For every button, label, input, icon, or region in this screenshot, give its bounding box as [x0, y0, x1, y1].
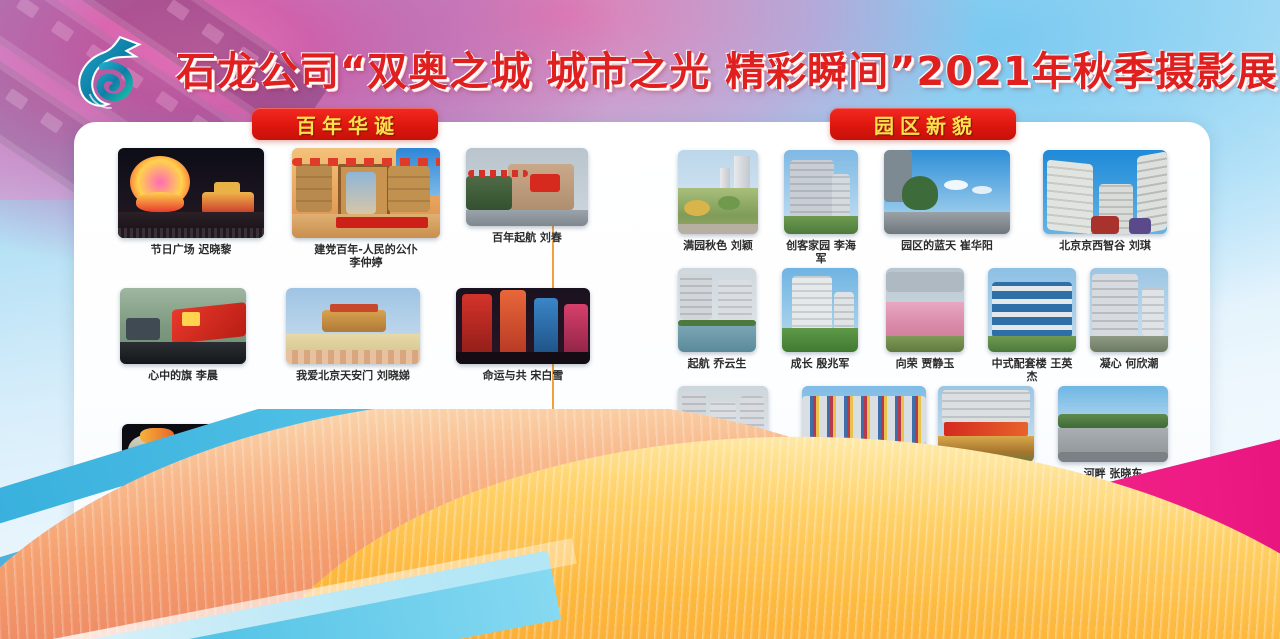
photo-caption: 心中的旗 李晨 [148, 369, 218, 382]
photo-cell[interactable]: 园区的蓝天 崔华阳 [884, 150, 1010, 252]
photo-cell[interactable]: 百年起航 刘春 [466, 148, 588, 244]
section-heading-right: 园区新貌 [830, 108, 1016, 140]
photo-cell[interactable]: 成长 殷兆军 [782, 268, 858, 370]
photo-cell[interactable]: 向荣 贾静玉 [886, 268, 964, 370]
photo-cell[interactable]: 中式配套楼 王英杰 [988, 268, 1076, 383]
photo-thumbnail[interactable] [678, 268, 756, 352]
photo-cell[interactable]: 起航 乔云生 [678, 268, 756, 370]
photo-thumbnail[interactable] [1090, 268, 1168, 352]
bottom-ribbon-decoration [0, 409, 1280, 639]
photo-caption: 北京京西智谷 刘琪 [1059, 239, 1151, 252]
photo-cell[interactable]: 节日广场 迟晓黎 [118, 148, 264, 256]
photo-caption: 创客家园 李海军 [784, 239, 858, 265]
photo-cell[interactable]: 心中的旗 李晨 [120, 288, 246, 382]
photo-caption: 建党百年-人民的公仆 李仲婷 [314, 243, 418, 269]
photo-thumbnail[interactable] [466, 148, 588, 226]
photo-caption: 凝心 何欣潮 [1100, 357, 1159, 370]
photo-caption: 满园秋色 刘颖 [683, 239, 753, 252]
photo-caption: 成长 殷兆军 [791, 357, 850, 370]
photo-caption: 百年起航 刘春 [492, 231, 562, 244]
photo-cell[interactable]: 建党百年-人民的公仆 李仲婷 [292, 148, 440, 269]
section-heading-left: 百年华诞 [252, 108, 438, 140]
photo-cell[interactable]: 满园秋色 刘颖 [678, 150, 758, 252]
photo-thumbnail[interactable] [118, 148, 264, 238]
photo-caption: 命运与共 宋白雪 [483, 369, 564, 382]
photo-thumbnail[interactable] [886, 268, 964, 352]
photo-thumbnail[interactable] [120, 288, 246, 364]
page-title: 石龙公司“双奥之城 城市之光 精彩瞬间”2021年秋季摄影展 [176, 46, 1206, 98]
photo-thumbnail[interactable] [292, 148, 440, 238]
photo-thumbnail[interactable] [782, 268, 858, 352]
section-heading-left-label: 百年华诞 [290, 110, 400, 139]
section-heading-right-label: 园区新貌 [868, 110, 978, 139]
photo-cell[interactable]: 我爱北京天安门 刘晓娣 [286, 288, 420, 382]
shilong-dragon-logo [62, 26, 154, 118]
photo-thumbnail[interactable] [784, 150, 858, 234]
photo-caption: 起航 乔云生 [688, 357, 747, 370]
photo-cell[interactable]: 凝心 何欣潮 [1090, 268, 1168, 370]
photo-caption: 中式配套楼 王英杰 [988, 357, 1076, 383]
photo-thumbnail[interactable] [678, 150, 758, 234]
photography-exhibition-poster: 石龙公司“双奥之城 城市之光 精彩瞬间”2021年秋季摄影展 百年华诞 园区新貌… [0, 0, 1280, 639]
photo-cell[interactable]: 创客家园 李海军 [784, 150, 858, 265]
photo-thumbnail[interactable] [286, 288, 420, 364]
photo-thumbnail[interactable] [1043, 150, 1167, 234]
photo-thumbnail[interactable] [456, 288, 590, 364]
photo-cell[interactable]: 北京京西智谷 刘琪 [1043, 150, 1167, 252]
photo-thumbnail[interactable] [988, 268, 1076, 352]
photo-caption: 我爱北京天安门 刘晓娣 [296, 369, 410, 382]
photo-caption: 节日广场 迟晓黎 [151, 243, 232, 256]
photo-caption: 向荣 贾静玉 [896, 357, 955, 370]
photo-caption: 园区的蓝天 崔华阳 [901, 239, 993, 252]
photo-thumbnail[interactable] [884, 150, 1010, 234]
photo-cell[interactable]: 命运与共 宋白雪 [456, 288, 590, 382]
